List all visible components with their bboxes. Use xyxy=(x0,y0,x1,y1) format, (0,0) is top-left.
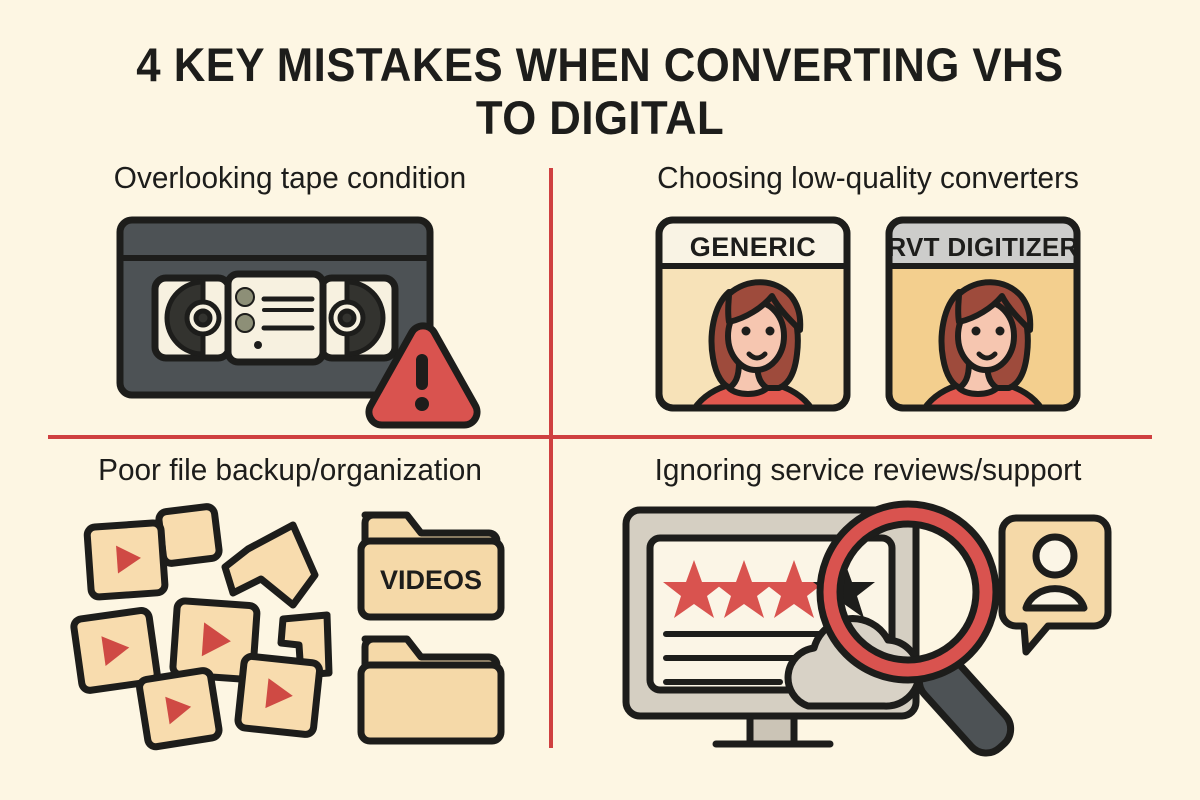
folder-videos: VIDEOS xyxy=(361,515,501,617)
quadrant-heading-converters: Choosing low-quality converters xyxy=(599,160,1137,196)
quadrant-heading-tape-condition: Overlooking tape condition xyxy=(50,160,530,196)
title-line-2: TO DIGITAL xyxy=(42,91,1158,144)
horizontal-divider xyxy=(48,435,1152,439)
quadrant-service-reviews: Ignoring service reviews/support xyxy=(588,452,1148,752)
converter-card-branded: RVT DIGITIZER xyxy=(887,220,1078,424)
converter-cards-icon: GENERIC xyxy=(653,214,1083,414)
files-folders-illustration: VIDEOS xyxy=(40,492,540,742)
page-title: 4 KEY MISTAKES WHEN CONVERTING VHS TO DI… xyxy=(42,38,1158,144)
files-and-folders-icon: VIDEOS xyxy=(65,497,515,737)
quadrant-heading-file-backup: Poor file backup/organization xyxy=(50,452,530,488)
card-label-generic: GENERIC xyxy=(690,232,817,262)
reviews-illustration xyxy=(588,492,1148,742)
scattered-file-cards xyxy=(73,506,329,748)
converter-cards-illustration: GENERIC xyxy=(588,208,1148,420)
folder-label-videos: VIDEOS xyxy=(380,565,482,595)
folder-empty xyxy=(361,639,501,741)
quadrant-tape-condition: Overlooking tape condition xyxy=(40,160,540,432)
quadrant-file-backup: Poor file backup/organization xyxy=(40,452,540,752)
quadrant-heading-service-reviews: Ignoring service reviews/support xyxy=(599,452,1137,488)
folder-group: VIDEOS xyxy=(361,515,501,741)
vhs-tape-icon xyxy=(115,210,465,415)
vertical-divider xyxy=(549,168,553,748)
quadrant-low-quality-converters: Choosing low-quality converters xyxy=(588,160,1148,432)
title-line-1: 4 KEY MISTAKES WHEN CONVERTING VHS xyxy=(42,38,1158,91)
infographic-canvas: 4 KEY MISTAKES WHEN CONVERTING VHS TO DI… xyxy=(0,0,1200,800)
card-label-branded: RVT DIGITIZER xyxy=(887,232,1078,262)
vhs-tape-illustration xyxy=(40,202,540,422)
user-speech-bubble xyxy=(1002,518,1108,652)
monitor-rating-magnifier-icon xyxy=(618,500,1118,735)
converter-card-generic: GENERIC xyxy=(659,220,847,424)
